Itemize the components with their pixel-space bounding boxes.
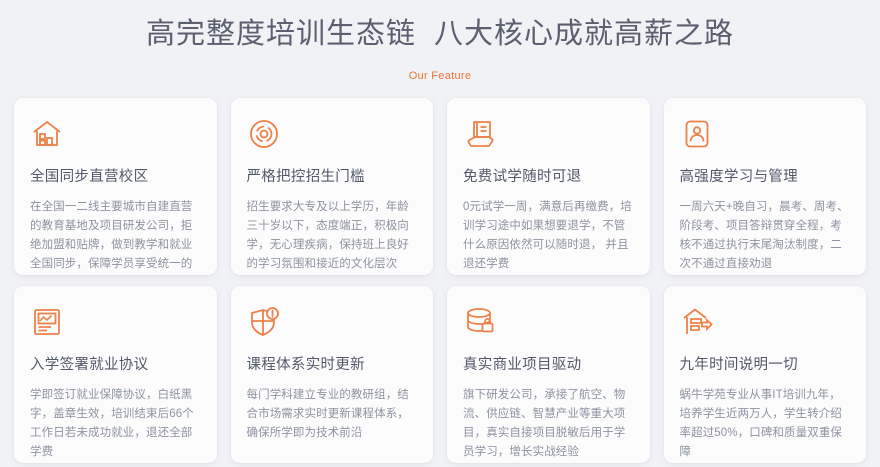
shield-alert-icon [247,305,281,339]
feature-card-title: 免费试学随时可退 [463,167,634,187]
house-campus-icon [30,117,64,151]
page-title: 高完整度培训生态链 八大核心成就高薪之路 [0,14,880,54]
feature-card-title: 课程体系实时更新 [247,355,418,375]
feature-card[interactable]: 入学签署就业协议 学即签订就业保障协议，白纸黑字，盖章生效，培训结束后66个工作… [14,286,217,463]
section-header: 高完整度培训生态链 八大核心成就高薪之路 Our Feature [0,0,880,82]
feature-card[interactable]: 九年时间说明一切 蜗牛学苑专业从事IT培训九年，培养学生近两万人，学生转介绍率超… [664,286,867,463]
feature-card[interactable]: 高强度学习与管理 一周六天+晚自习，晨考、周考、阶段考、项目答辩贯穿全程，考核不… [664,98,867,275]
feature-card[interactable]: 免费试学随时可退 0元试学一周，满意后再缴费，培训学习途中如果想要退学，不管什么… [447,98,650,275]
feature-card-body: 旗下研发公司，承接了航空、物流、供应链、智慧产业等重大项目，真实自接项目脱敏后用… [463,386,634,462]
feature-card-title: 九年时间说明一切 [680,355,851,375]
document-chart-icon [30,305,64,339]
feature-card[interactable]: 全国同步直营校区 在全国一二线主要城市自建直营的教育基地及项目研发公司，拒绝加盟… [14,98,217,275]
feature-card-body: 0元试学一周，满意后再缴费，培训学习途中如果想要退学，不管什么原因依然可以随时退… [463,198,634,274]
feature-section: 高完整度培训生态链 八大核心成就高薪之路 Our Feature 全国同步直营校… [0,0,880,467]
feature-card-title: 真实商业项目驱动 [463,355,634,375]
database-lock-icon [463,305,497,339]
feature-card-title: 入学签署就业协议 [30,355,201,375]
feature-card[interactable]: 严格把控招生门槛 招生要求大专及以上学历，年龄三十岁以下，态度端正，积极向学，无… [231,98,434,275]
feature-card-title: 严格把控招生门槛 [247,167,418,187]
person-badge-icon [680,117,714,151]
warehouse-arrow-icon [680,305,714,339]
feature-card-title: 全国同步直营校区 [30,167,201,187]
feature-card-body: 学即签订就业保障协议，白纸黑字，盖章生效，培训结束后66个工作日若未成功就业，退… [30,386,201,462]
target-circle-icon [247,117,281,151]
feature-card-body: 在全国一二线主要城市自建直营的教育基地及项目研发公司，拒绝加盟和贴牌，做到教学和… [30,198,201,275]
feature-card-body: 招生要求大专及以上学历，年龄三十岁以下，态度端正，积极向学，无心理疾病，保持班上… [247,198,418,274]
hand-book-icon [463,117,497,151]
feature-card-grid: 全国同步直营校区 在全国一二线主要城市自建直营的教育基地及项目研发公司，拒绝加盟… [14,98,866,463]
feature-card-body: 蜗牛学苑专业从事IT培训九年，培养学生近两万人，学生转介绍率超过50%，口碑和质… [680,386,851,462]
feature-card-body: 一周六天+晚自习，晨考、周考、阶段考、项目答辩贯穿全程，考核不通过执行末尾淘汰制… [680,198,851,274]
feature-card-title: 高强度学习与管理 [680,167,851,187]
feature-card[interactable]: 课程体系实时更新 每门学科建立专业的教研组，结合市场需求实时更新课程体系，确保所… [231,286,434,463]
feature-card[interactable]: 真实商业项目驱动 旗下研发公司，承接了航空、物流、供应链、智慧产业等重大项目，真… [447,286,650,463]
feature-card-body: 每门学科建立专业的教研组，结合市场需求实时更新课程体系，确保所学即为技术前沿 [247,386,418,443]
page-subtitle: Our Feature [0,70,880,82]
